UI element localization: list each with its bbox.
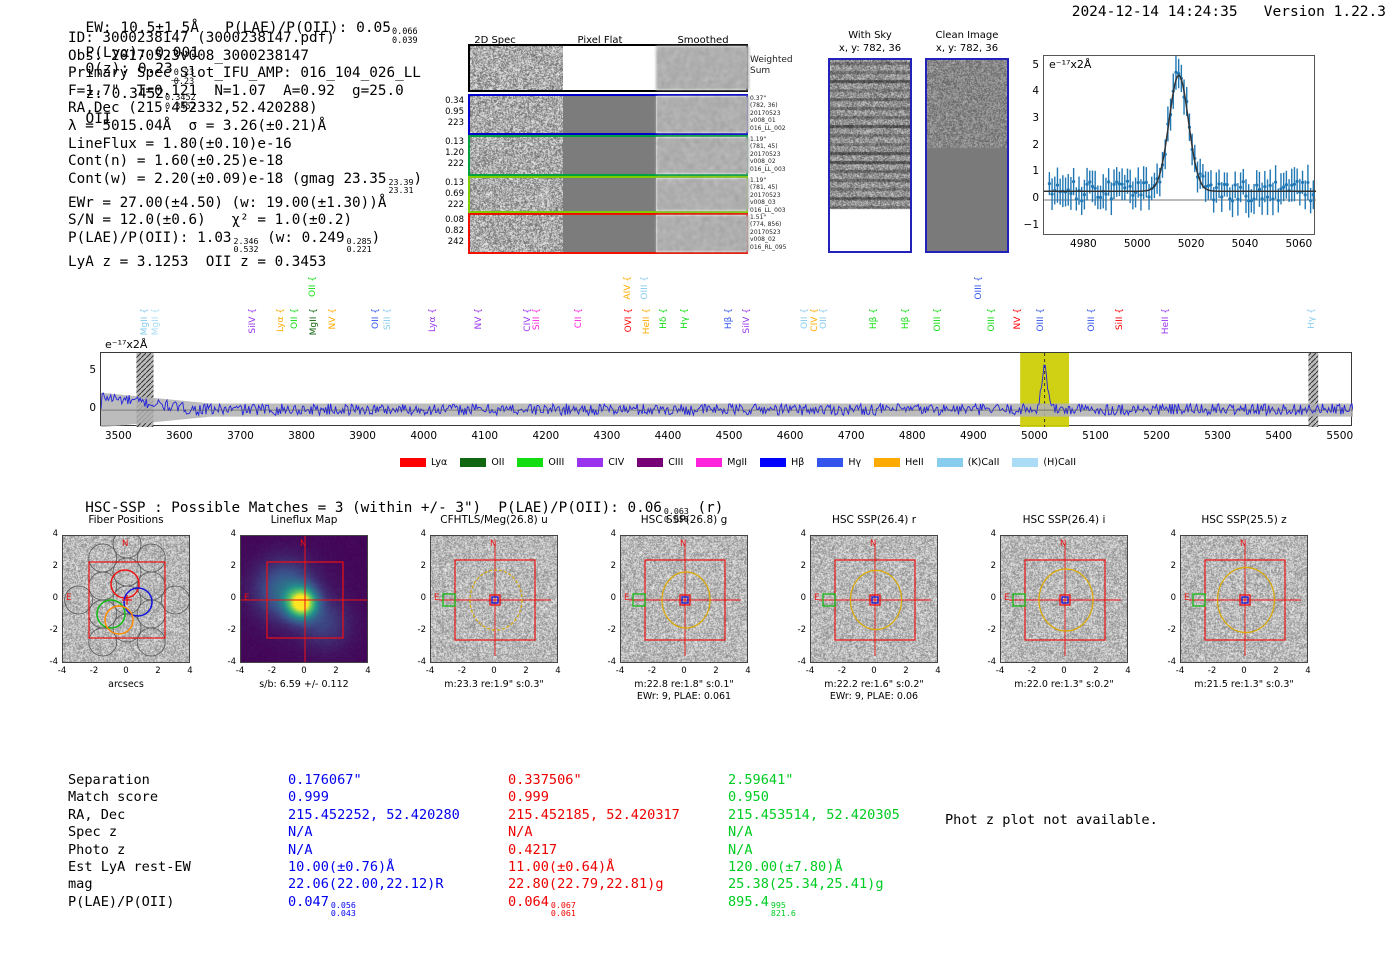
- table-cell: 0.0640.0670.061: [508, 894, 680, 918]
- cutout-ytick: 4: [218, 529, 236, 539]
- cutout-xtick: -4: [988, 666, 1012, 676]
- table-label: Est LyA rest-EW: [68, 859, 191, 876]
- info-plae-errors: 2.3460.532: [234, 237, 259, 254]
- clean-image: [925, 58, 1009, 253]
- legend-swatch: [874, 458, 900, 467]
- table-label: Separation: [68, 772, 191, 789]
- legend-swatch: [937, 458, 963, 467]
- info-lineflux: LineFlux = 1.80(±0.10)e-16: [68, 136, 422, 154]
- info-radec: RA,Dec (215.452332,52.420288): [68, 100, 422, 118]
- legend-label: (H)CaII: [1043, 457, 1076, 468]
- table-cell: 0.176067": [288, 772, 460, 789]
- info-params: F=1.7" T=0.121 N=1.07 A=0.92 g=25.0: [68, 83, 422, 101]
- legend-swatch: [460, 458, 486, 467]
- cutout-xtick: -4: [418, 666, 442, 676]
- cutout-title-6: HSC SSP(25.5) z: [1155, 514, 1333, 526]
- cutout-ytick: 2: [1158, 561, 1176, 571]
- spectrum-xtick: 3800: [277, 430, 327, 442]
- cutout-ytick: 2: [598, 561, 616, 571]
- zoom-ytick: 4: [1021, 85, 1039, 97]
- spectrum-xtick: 4200: [521, 430, 571, 442]
- table-cell: N/A: [728, 824, 900, 841]
- spectrum-xtick: 5400: [1254, 430, 1304, 442]
- cutout-caption-1: s/b: 6.59 +/- 0.112: [205, 679, 403, 691]
- legend-entry: Lyα: [400, 457, 447, 468]
- east-marker: E: [814, 593, 819, 603]
- cutout-title-3: HSC SSP(26.8) g: [595, 514, 773, 526]
- spec2d-row: [468, 176, 748, 213]
- emission-line-label: OIII {: [640, 276, 650, 300]
- zoom-ytick: −1: [1021, 219, 1039, 231]
- table-label: Photo z: [68, 842, 191, 859]
- cutout-xtick: -2: [260, 666, 284, 676]
- legend-label: (K)CaII: [968, 457, 1000, 468]
- cutout-caption2-3: EWr: 9, PLAE: 0.061: [585, 691, 783, 703]
- cutout-ytick: 2: [788, 561, 806, 571]
- table-cell: 0.999: [288, 789, 460, 806]
- cutout-ytick: 0: [1158, 593, 1176, 603]
- cutout-xtick: 0: [114, 666, 138, 676]
- cutout-ytick: -2: [978, 625, 996, 635]
- spectrum-xtick: 4800: [887, 430, 937, 442]
- emission-line-label: SiII {: [383, 308, 393, 330]
- legend-entry: CIV: [577, 457, 624, 468]
- legend-label: OII: [491, 457, 504, 468]
- cutout-ytick: -2: [408, 625, 426, 635]
- info-cont-w: Cont(w) = 2.20(±0.09)e-18 (gmag 23.3523.…: [68, 171, 422, 195]
- legend-entry: (K)CaII: [937, 457, 1000, 468]
- cutout-ytick: 4: [40, 529, 58, 539]
- cutout-xtick: -2: [1020, 666, 1044, 676]
- emission-line-label: Lyα {: [428, 308, 438, 332]
- cutout-xtick: 0: [672, 666, 696, 676]
- zoom-xtick: 5040: [1223, 238, 1267, 250]
- spectrum-xtick: 4100: [460, 430, 510, 442]
- zoom-ytick: 0: [1021, 192, 1039, 204]
- table-cell: 0.0470.0560.043: [288, 894, 460, 918]
- legend-label: HeII: [905, 457, 924, 468]
- cutout-xtick: 4: [926, 666, 950, 676]
- cutout-caption2-4: EWr: 9, PLAE: 0.06: [775, 691, 973, 703]
- cutout-ytick: -2: [218, 625, 236, 635]
- table-cell: 0.4217: [508, 842, 680, 859]
- legend-entry: MgII: [696, 457, 747, 468]
- cutout-image-6[interactable]: [1180, 535, 1308, 663]
- cutout-ytick: 2: [40, 561, 58, 571]
- emission-line-label: HeII {: [1161, 308, 1171, 334]
- north-marker: N: [300, 539, 306, 549]
- cutout-xtick: 0: [1052, 666, 1076, 676]
- spec2d-row: [468, 44, 748, 92]
- emission-line-label: SiIV {: [742, 308, 752, 334]
- emission-line-label: NV {: [1013, 308, 1023, 329]
- emission-line-label: MgII {: [309, 308, 319, 335]
- cutout-xtick: 2: [704, 666, 728, 676]
- cutout-xtick: -2: [1200, 666, 1224, 676]
- zoom-ytick: 3: [1021, 112, 1039, 124]
- legend-entry: CIII: [637, 457, 683, 468]
- emission-line-label: OVI {: [624, 308, 634, 332]
- legend-entry: Hγ: [817, 457, 861, 468]
- zoom-ytick: 5: [1021, 59, 1039, 71]
- spec2d-row-stats: 0.13 0.69 222: [428, 178, 464, 211]
- cutout-xtick: -2: [830, 666, 854, 676]
- cutout-caption-6: m:21.5 re:1.3" s:0.3": [1145, 679, 1343, 691]
- legend-entry: OII: [460, 457, 504, 468]
- cutout-overlay: [63, 536, 190, 663]
- cutout-xtick: -4: [798, 666, 822, 676]
- weighted-sum-label: Weighted Sum: [750, 55, 793, 77]
- spec2d-row-meta: 0.37" (782, 36) 20170523 v008_01 016_LL_…: [750, 95, 786, 132]
- emission-line-label: CIV {: [523, 308, 533, 332]
- emission-line-label: Hδ {: [659, 308, 669, 329]
- spectrum-xtick: 4000: [399, 430, 449, 442]
- cutout-xtick: 0: [1232, 666, 1256, 676]
- cutout-xtick: 4: [178, 666, 202, 676]
- north-marker: N: [870, 539, 876, 549]
- cutout-xtick: -2: [82, 666, 106, 676]
- spec2d-row: [468, 94, 748, 135]
- table-cell-errors: 995821.6: [771, 901, 796, 918]
- emission-line-label: Hγ {: [1307, 308, 1317, 329]
- emission-line-label: OII {: [290, 308, 300, 329]
- sky-panel-coords-1: x, y: 782, 36: [915, 43, 1019, 54]
- cutout-xtick: 2: [146, 666, 170, 676]
- cutout-image-0[interactable]: [62, 535, 190, 663]
- table-cell: 22.06(22.00,22.12)R: [288, 876, 460, 893]
- table-cell: 120.00(±7.80)Å: [728, 859, 900, 876]
- info-lambda-sigma: λ = 5015.04Å σ = 3.26(±0.21)Å: [68, 118, 422, 136]
- legend-swatch: [817, 458, 843, 467]
- table-cell: 22.80(22.79,22.81)g: [508, 876, 680, 893]
- emission-line-label: OIII {: [933, 308, 943, 332]
- with-sky-image: [828, 58, 912, 253]
- cutout-caption-4: m:22.2 re:1.6" s:0.2": [775, 679, 973, 691]
- emission-line-label: OIII {: [1036, 308, 1046, 332]
- timestamp-version: 2024-12-14 14:24:35 Version 1.22.3: [1072, 4, 1386, 20]
- cutout-xtick: -2: [450, 666, 474, 676]
- spectrum-xtick: 4900: [948, 430, 998, 442]
- emission-line-label: OII {: [800, 308, 810, 329]
- table-label: P(LAE)/P(OII): [68, 894, 191, 911]
- spectrum-xtick: 4300: [582, 430, 632, 442]
- cutout-xtick: 0: [862, 666, 886, 676]
- cutout-overlay: [811, 536, 938, 663]
- zoom-ytick: 1: [1021, 165, 1039, 177]
- spec2d-row-stats: 0.34 0.95 223: [428, 96, 464, 129]
- table-cell: 895.4995821.6: [728, 894, 900, 918]
- spectrum-xtick: 4700: [826, 430, 876, 442]
- cutout-title-4: HSC SSP(26.4) r: [785, 514, 963, 526]
- spectrum-xtick: 5000: [1009, 430, 1059, 442]
- emission-line-label: Hγ {: [680, 308, 690, 329]
- cutout-ytick: 0: [598, 593, 616, 603]
- cutout-ytick: -2: [598, 625, 616, 635]
- emission-line-label: SiIV {: [248, 308, 258, 334]
- spectrum-xtick: 4500: [704, 430, 754, 442]
- table-cell: 0.999: [508, 789, 680, 806]
- zoom-spectrum-plot: [1043, 55, 1315, 235]
- table-column-red: 0.337506"0.999215.452185, 52.420317N/A0.…: [508, 772, 680, 918]
- legend-swatch: [760, 458, 786, 467]
- spectrum-xtick: 5300: [1193, 430, 1243, 442]
- spectrum-xtick: 3600: [154, 430, 204, 442]
- emission-line-label: MgII {: [140, 308, 150, 335]
- spectrum-xtick: 3700: [215, 430, 265, 442]
- table-cell: 215.452185, 52.420317: [508, 807, 680, 824]
- info-primary-spec: Primary Spec_Slot_IFU_AMP: 016_104_026_L…: [68, 65, 422, 83]
- table-cell: 25.38(25.34,25.41)g: [728, 876, 900, 893]
- info-redshifts: LyA z = 3.1253 OII z = 0.3453: [68, 254, 422, 272]
- spec2d-row-stats: 0.08 0.82 242: [428, 215, 464, 248]
- cutout-xtick: 2: [1084, 666, 1108, 676]
- north-marker: N: [1060, 539, 1066, 549]
- table-cell: 0.950: [728, 789, 900, 806]
- detection-info-block: ID: 3000238147 (3000238147.pdf) Obs: 201…: [68, 30, 422, 271]
- spectrum-ytick: 5: [80, 364, 96, 376]
- cutout-ytick: 0: [788, 593, 806, 603]
- cutout-overlay: [431, 536, 558, 663]
- east-marker: E: [434, 593, 439, 603]
- cutout-xtick: 4: [1116, 666, 1140, 676]
- east-marker: E: [624, 593, 629, 603]
- legend-label: CIV: [608, 457, 624, 468]
- cutout-image-2[interactable]: [430, 535, 558, 663]
- cutout-ytick: 4: [978, 529, 996, 539]
- table-cell-errors: 0.0670.061: [551, 901, 576, 918]
- zoom-xtick: 5020: [1169, 238, 1213, 250]
- legend-swatch: [400, 458, 426, 467]
- legend-label: OIII: [548, 457, 564, 468]
- spectrum-xtick: 5100: [1070, 430, 1120, 442]
- emission-line-label: OII {: [308, 276, 318, 297]
- cutout-xtick: -4: [1168, 666, 1192, 676]
- legend-label: CIII: [668, 457, 683, 468]
- zoom-plot-units: e⁻¹⁷x2Å: [1049, 58, 1091, 71]
- cutout-overlay: [1181, 536, 1308, 663]
- cutout-caption-3: m:22.8 re:1.8" s:0.1": [585, 679, 783, 691]
- emission-line-label: OIII {: [974, 276, 984, 300]
- emission-line-label: NV {: [328, 308, 338, 329]
- emission-line-label: Lyα {: [276, 308, 286, 332]
- table-cell: N/A: [508, 824, 680, 841]
- cutout-image-1[interactable]: [240, 535, 368, 663]
- emission-line-label: AIV {: [623, 276, 633, 300]
- emission-line-label: OII {: [371, 308, 381, 329]
- emission-line-label: Hβ {: [901, 308, 911, 329]
- cutout-xtick: 4: [546, 666, 570, 676]
- legend-swatch: [517, 458, 543, 467]
- info-plae: P(LAE)/P(OII): 1.032.3460.532 (w: 0.2490…: [68, 230, 422, 254]
- table-label: mag: [68, 876, 191, 893]
- legend-swatch: [1012, 458, 1038, 467]
- spectrum-units: e⁻¹⁷x2Å: [105, 338, 147, 351]
- cutout-overlay: [241, 536, 368, 663]
- spec2d-row-stats: 0.13 1.20 222: [428, 137, 464, 170]
- cutout-overlay: [621, 536, 748, 663]
- table-cell: 11.00(±0.64)Å: [508, 859, 680, 876]
- legend-label: Hγ: [848, 457, 861, 468]
- cutout-xtick: 2: [894, 666, 918, 676]
- east-marker: E: [66, 593, 71, 603]
- east-marker: E: [1004, 593, 1009, 603]
- table-cell: N/A: [288, 842, 460, 859]
- cutout-xtick: 0: [292, 666, 316, 676]
- cutout-ytick: 2: [978, 561, 996, 571]
- table-cell: 215.452252, 52.420280: [288, 807, 460, 824]
- cutout-overlay: [1001, 536, 1128, 663]
- table-cell: N/A: [288, 824, 460, 841]
- table-cell: 10.00(±0.76)Å: [288, 859, 460, 876]
- table-cell-errors: 0.0560.043: [331, 901, 356, 918]
- emission-line-label: Hβ {: [724, 308, 734, 329]
- info-ewr: EWr = 27.00(±4.50) (w: 19.00(±1.30))Å: [68, 195, 422, 213]
- cutout-ytick: 0: [218, 593, 236, 603]
- spectrum-legend: LyαOIIOIIICIVCIIIMgIIHβHγHeII(K)CaII(H)C…: [400, 452, 1089, 471]
- east-marker: E: [244, 593, 249, 603]
- emission-line-label: HeII {: [642, 308, 652, 334]
- cutout-ytick: -2: [1158, 625, 1176, 635]
- legend-swatch: [637, 458, 663, 467]
- cutout-xtick: 0: [482, 666, 506, 676]
- cutout-title-5: HSC SSP(26.4) i: [975, 514, 1153, 526]
- phot-z-note: Phot z plot not available.: [945, 812, 1158, 828]
- table-cell: 2.59641": [728, 772, 900, 789]
- cutout-xtick: 2: [324, 666, 348, 676]
- cutout-caption-0: arcsecs: [27, 679, 225, 691]
- cutout-image-4[interactable]: [810, 535, 938, 663]
- legend-label: Hβ: [791, 457, 804, 468]
- cutout-image-3[interactable]: [620, 535, 748, 663]
- emission-line-label: CII {: [574, 308, 584, 328]
- north-marker: N: [680, 539, 686, 549]
- emission-line-label: OIII {: [1087, 308, 1097, 332]
- cutout-ytick: 2: [218, 561, 236, 571]
- cutout-xtick: -2: [640, 666, 664, 676]
- info-sn-chi2: S/N = 12.0(±0.6) χ² = 1.0(±0.2): [68, 212, 422, 230]
- table-column-blue: 0.176067"0.999215.452252, 52.420280N/AN/…: [288, 772, 460, 918]
- table-label: Spec z: [68, 824, 191, 841]
- emission-line-label: Hβ {: [869, 308, 879, 329]
- cutout-title-1: Lineflux Map: [215, 514, 393, 526]
- legend-entry: Hβ: [760, 457, 804, 468]
- cutout-ytick: 0: [408, 593, 426, 603]
- east-marker: E: [1184, 593, 1189, 603]
- spectrum-xtick: 3900: [338, 430, 388, 442]
- cutout-ytick: 2: [408, 561, 426, 571]
- cutout-ytick: 0: [40, 593, 58, 603]
- legend-entry: (H)CaII: [1012, 457, 1076, 468]
- info-id: ID: 3000238147 (3000238147.pdf): [68, 30, 422, 48]
- zoom-xtick: 5000: [1115, 238, 1159, 250]
- spectrum-xtick: 3500: [93, 430, 143, 442]
- cutout-ytick: 4: [408, 529, 426, 539]
- cutout-ytick: 4: [598, 529, 616, 539]
- legend-swatch: [696, 458, 722, 467]
- emission-line-label: SiII {: [532, 308, 542, 330]
- legend-entry: OIII: [517, 457, 564, 468]
- table-cell: 0.337506": [508, 772, 680, 789]
- emission-line-label: SiII {: [1115, 308, 1125, 330]
- info-obs: Obs: 20170523v008_3000238147: [68, 48, 422, 66]
- spec2d-row-meta: 1.51" (774, 856) 20170523 v008_02 016_RL…: [750, 214, 786, 251]
- north-marker: N: [1240, 539, 1246, 549]
- cutout-ytick: -2: [788, 625, 806, 635]
- spec2d-row-meta: 1.19" (781, 45) 20170523 v008_03 016_LL_…: [750, 177, 786, 214]
- table-cell: 215.453514, 52.420305: [728, 807, 900, 824]
- legend-label: Lyα: [431, 457, 447, 468]
- table-cell: N/A: [728, 842, 900, 859]
- legend-label: MgII: [727, 457, 747, 468]
- table-row-labels: SeparationMatch scoreRA, DecSpec zPhoto …: [68, 772, 191, 911]
- zoom-xtick: 4980: [1061, 238, 1105, 250]
- spectrum-ytick: 0: [80, 402, 96, 414]
- legend-entry: HeII: [874, 457, 924, 468]
- full-spectrum-plot: [100, 352, 1352, 426]
- table-column-green: 2.59641"0.950215.453514, 52.420305N/AN/A…: [728, 772, 900, 918]
- cutout-xtick: 4: [356, 666, 380, 676]
- spectrum-xtick: 4600: [765, 430, 815, 442]
- cutout-xtick: 2: [514, 666, 538, 676]
- emission-line-label: OIII {: [987, 308, 997, 332]
- spec2d-row-meta: 1.19" (781, 45) 20170523 v008_02 016_LL_…: [750, 136, 786, 173]
- spectrum-xtick: 5200: [1132, 430, 1182, 442]
- cutout-title-0: Fiber Positions: [37, 514, 215, 526]
- info-cont-w-errors: 23.3923.31: [388, 178, 413, 195]
- cutout-xtick: 4: [1296, 666, 1320, 676]
- cutout-title-2: CFHTLS/Meg(26.8) u: [405, 514, 583, 526]
- cutout-ytick: 0: [978, 593, 996, 603]
- cutout-ytick: -2: [40, 625, 58, 635]
- table-label: RA, Dec: [68, 807, 191, 824]
- emission-line-label: MgII {: [151, 308, 161, 335]
- cutout-caption-5: m:22.0 re:1.3" s:0.2": [965, 679, 1163, 691]
- table-label: Match score: [68, 789, 191, 806]
- north-marker: N: [490, 539, 496, 549]
- spec2d-row: [468, 135, 748, 176]
- spectrum-xtick: 5500: [1315, 430, 1365, 442]
- legend-swatch: [577, 458, 603, 467]
- cutout-image-5[interactable]: [1000, 535, 1128, 663]
- cutout-ytick: 4: [788, 529, 806, 539]
- cutout-caption-2: m:23.3 re:1.9" s:0.3": [395, 679, 593, 691]
- emission-line-label: OII {: [819, 308, 829, 329]
- cutout-xtick: -4: [228, 666, 252, 676]
- cutout-xtick: 4: [736, 666, 760, 676]
- sky-panel-coords-0: x, y: 782, 36: [818, 43, 922, 54]
- zoom-xtick: 5060: [1277, 238, 1321, 250]
- cutout-ytick: 4: [1158, 529, 1176, 539]
- north-marker: N: [122, 539, 128, 549]
- cutout-xtick: -4: [50, 666, 74, 676]
- spectrum-xtick: 4400: [643, 430, 693, 442]
- emission-line-label: NV {: [474, 308, 484, 329]
- info-plae-w-errors: 0.2850.221: [347, 237, 372, 254]
- spec2d-row: [468, 213, 748, 254]
- sky-panel-title-0: With Sky: [818, 30, 922, 41]
- cutout-xtick: -4: [608, 666, 632, 676]
- info-cont-n: Cont(n) = 1.60(±0.25)e-18: [68, 153, 422, 171]
- sky-panel-title-1: Clean Image: [915, 30, 1019, 41]
- cutout-xtick: 2: [1264, 666, 1288, 676]
- zoom-ytick: 2: [1021, 139, 1039, 151]
